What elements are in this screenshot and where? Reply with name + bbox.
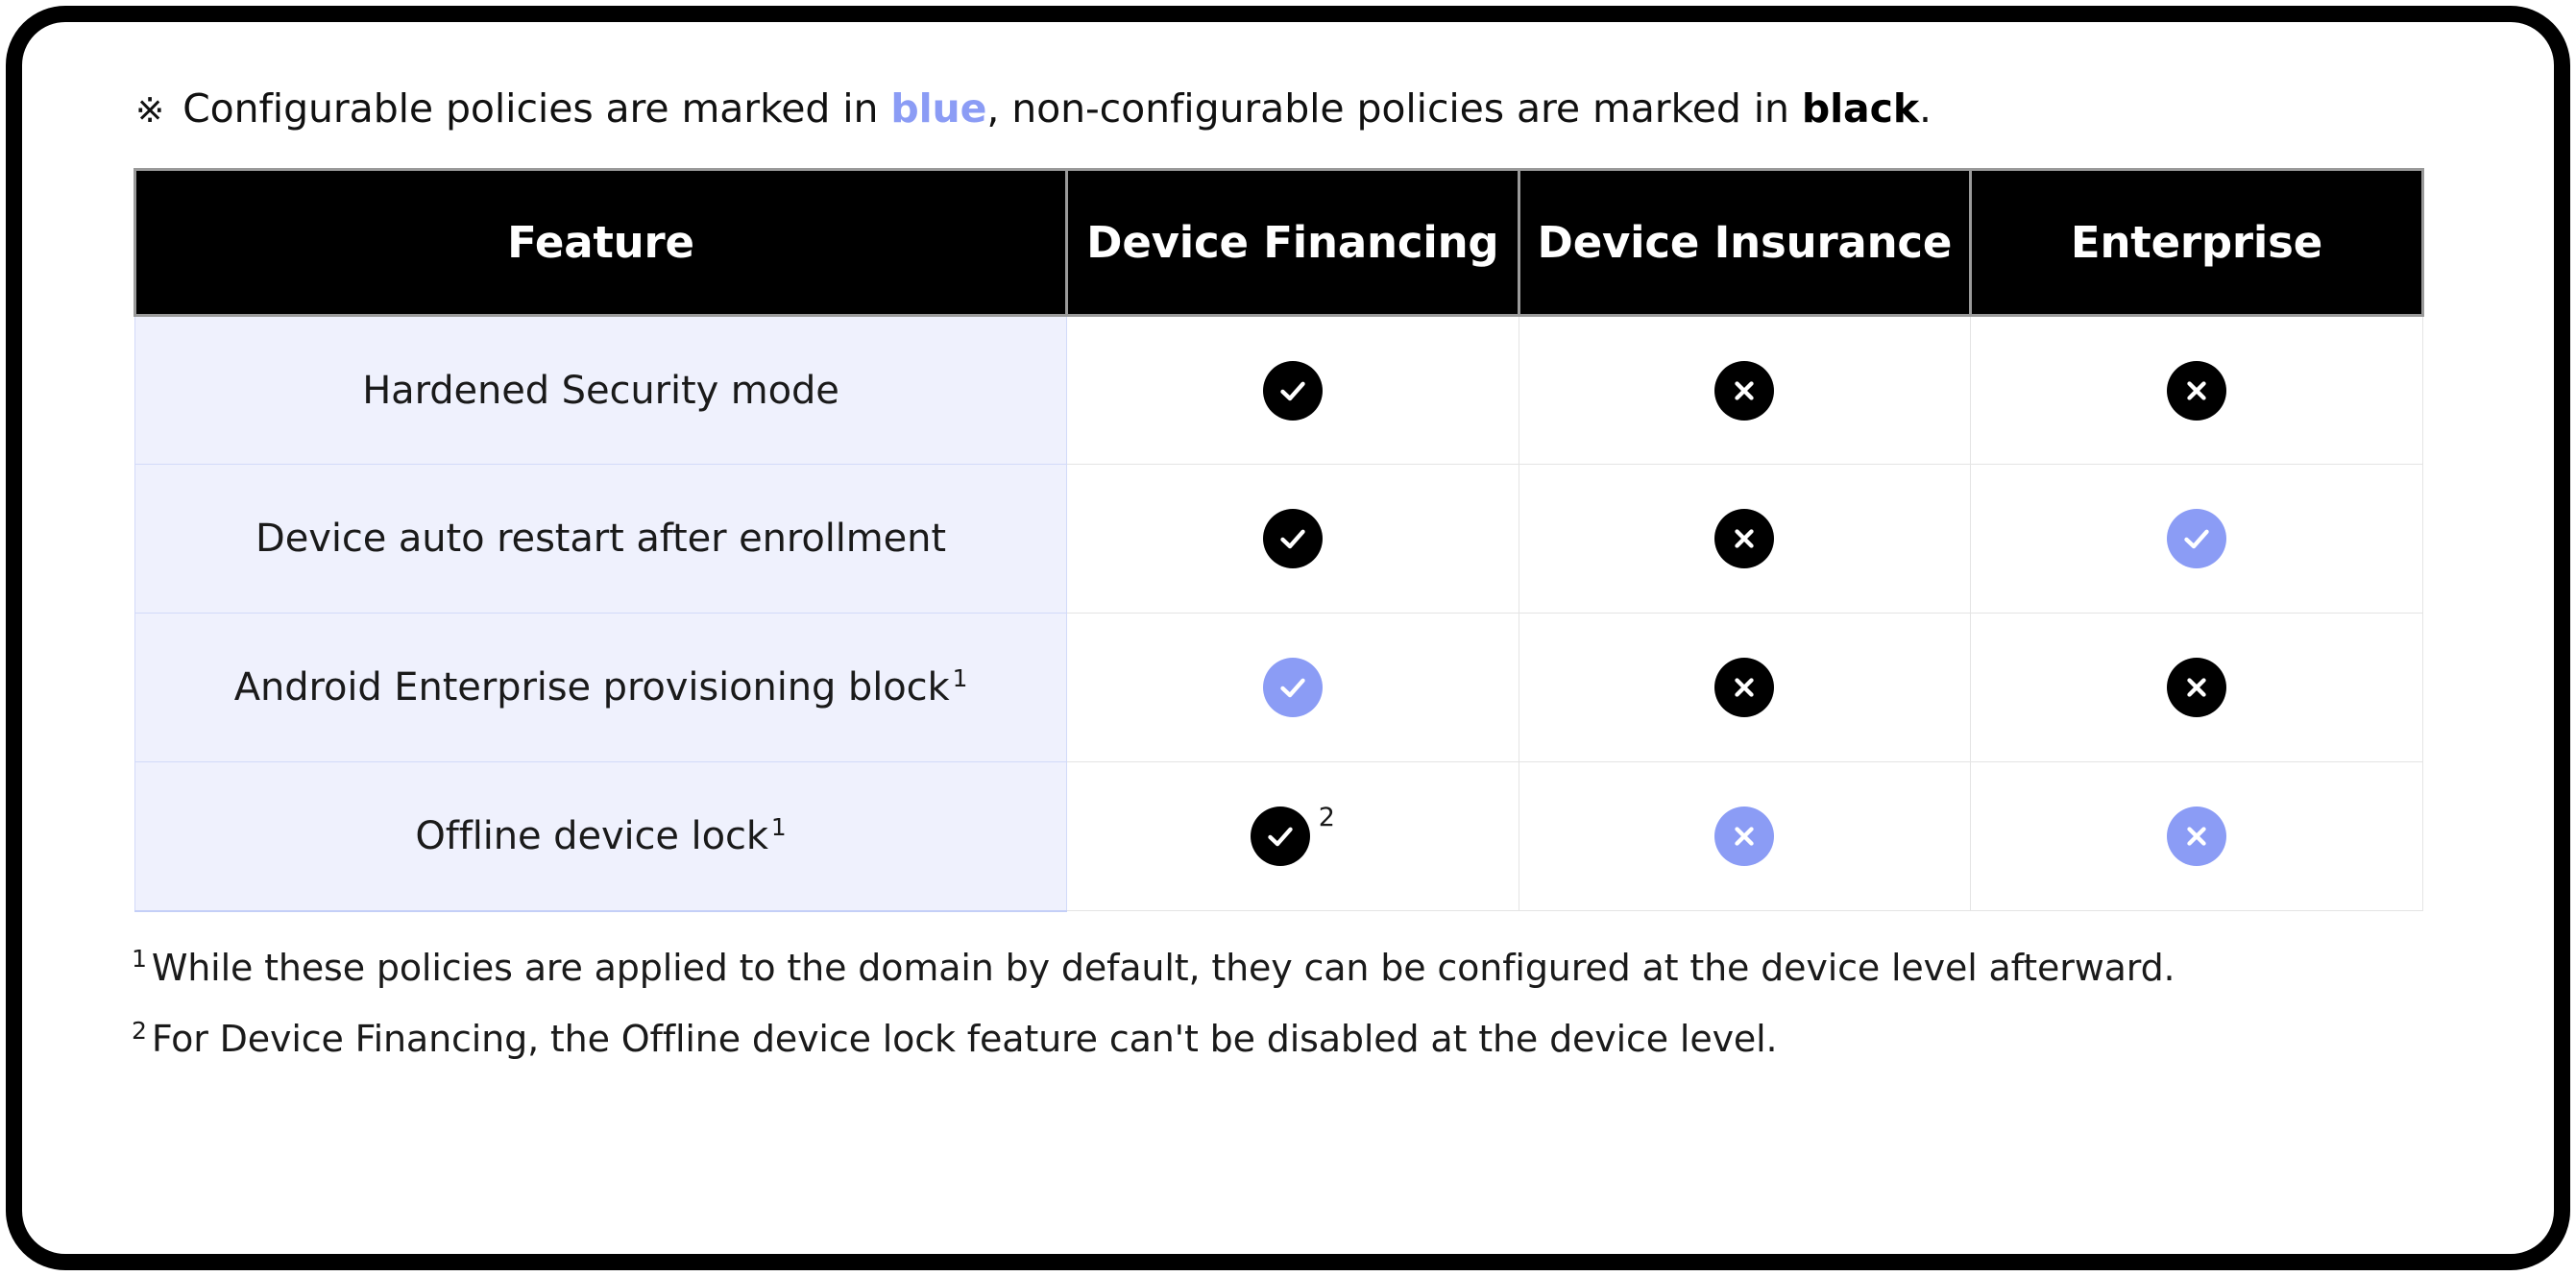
page-root: ※ Configurable policies are marked in bl… <box>0 0 2576 1276</box>
check-icon <box>1263 658 1323 717</box>
status-cell <box>1519 316 1971 465</box>
cross-icon <box>2167 658 2226 717</box>
status-icon-group <box>1263 658 1323 717</box>
feature-label: Device auto restart after enrollment <box>255 517 946 561</box>
table-body: Hardened Security modeDevice auto restar… <box>135 316 2423 911</box>
legend-note: ※ Configurable policies are marked in bl… <box>135 85 2458 132</box>
table-row: Android Enterprise provisioning block1 <box>135 614 2423 762</box>
status-icon-group: 2 <box>1251 807 1335 866</box>
column-header-device-insurance: Device Insurance <box>1519 170 1971 316</box>
cross-icon <box>2167 807 2226 866</box>
status-icon-group <box>2167 509 2226 568</box>
column-header-device-financing: Device Financing <box>1067 170 1519 316</box>
check-icon <box>2167 509 2226 568</box>
status-icon-group <box>1714 807 1774 866</box>
feature-label-cell: Device auto restart after enrollment <box>135 465 1067 614</box>
footnote-1-text: While these policies are applied to the … <box>152 947 2175 989</box>
legend-middle: , non-configurable policies are marked i… <box>986 85 1802 132</box>
status-cell <box>1519 465 1971 614</box>
status-icon-group <box>1263 361 1323 421</box>
check-icon <box>1251 807 1310 866</box>
column-header-enterprise: Enterprise <box>1971 170 2423 316</box>
table-row: Offline device lock12 <box>135 762 2423 911</box>
feature-footnote-ref: 1 <box>953 664 968 692</box>
footnote-1-ref: 1 <box>132 945 147 973</box>
status-footnote-ref: 2 <box>1319 805 1335 831</box>
table-header-row: Feature Device Financing Device Insuranc… <box>135 170 2423 316</box>
footnote-1: 1While these policies are applied to the… <box>132 946 2458 992</box>
footnote-2-text: For Device Financing, the Offline device… <box>152 1018 1778 1060</box>
status-cell <box>1971 316 2423 465</box>
feature-footnote-ref: 1 <box>771 813 787 841</box>
status-icon-group <box>2167 361 2226 421</box>
cross-icon <box>1714 658 1774 717</box>
check-icon <box>1263 361 1323 421</box>
check-icon <box>1263 509 1323 568</box>
table-row: Device auto restart after enrollment <box>135 465 2423 614</box>
card-frame: ※ Configurable policies are marked in bl… <box>6 6 2570 1270</box>
footnotes: 1While these policies are applied to the… <box>132 946 2458 1063</box>
legend-blue-word: blue <box>890 85 986 132</box>
status-cell <box>1067 614 1519 762</box>
feature-label-cell: Android Enterprise provisioning block1 <box>135 614 1067 762</box>
cross-icon <box>1714 807 1774 866</box>
status-cell <box>1519 762 1971 911</box>
legend-suffix: . <box>1919 85 1932 132</box>
footnote-2: 2For Device Financing, the Offline devic… <box>132 1017 2458 1063</box>
legend-prefix: Configurable policies are marked in <box>182 85 890 132</box>
status-cell: 2 <box>1067 762 1519 911</box>
table-header: Feature Device Financing Device Insuranc… <box>135 170 2423 316</box>
status-cell <box>1971 614 2423 762</box>
cross-icon <box>1714 361 1774 421</box>
table-row: Hardened Security mode <box>135 316 2423 465</box>
status-icon-group <box>1714 658 1774 717</box>
status-cell <box>1971 762 2423 911</box>
feature-label: Hardened Security mode <box>362 369 839 413</box>
column-header-feature: Feature <box>135 170 1067 316</box>
status-icon-group <box>1714 509 1774 568</box>
feature-label: Offline device lock <box>415 814 768 858</box>
status-icon-group <box>1714 361 1774 421</box>
status-cell <box>1519 614 1971 762</box>
footnote-2-ref: 2 <box>132 1017 147 1045</box>
cross-icon <box>1714 509 1774 568</box>
card-content: ※ Configurable policies are marked in bl… <box>22 22 2554 1254</box>
status-icon-group <box>2167 658 2226 717</box>
status-icon-group <box>1263 509 1323 568</box>
status-cell <box>1971 465 2423 614</box>
reference-mark-icon: ※ <box>135 90 164 132</box>
legend-text: Configurable policies are marked in blue… <box>182 85 1932 132</box>
legend-black-word: black <box>1802 85 1919 132</box>
feature-label-cell: Hardened Security mode <box>135 316 1067 465</box>
feature-label-cell: Offline device lock1 <box>135 762 1067 911</box>
feature-label: Android Enterprise provisioning block <box>234 665 950 710</box>
status-cell <box>1067 465 1519 614</box>
cross-icon <box>2167 361 2226 421</box>
status-cell <box>1067 316 1519 465</box>
status-icon-group <box>2167 807 2226 866</box>
feature-matrix-table: Feature Device Financing Device Insuranc… <box>134 168 2424 912</box>
